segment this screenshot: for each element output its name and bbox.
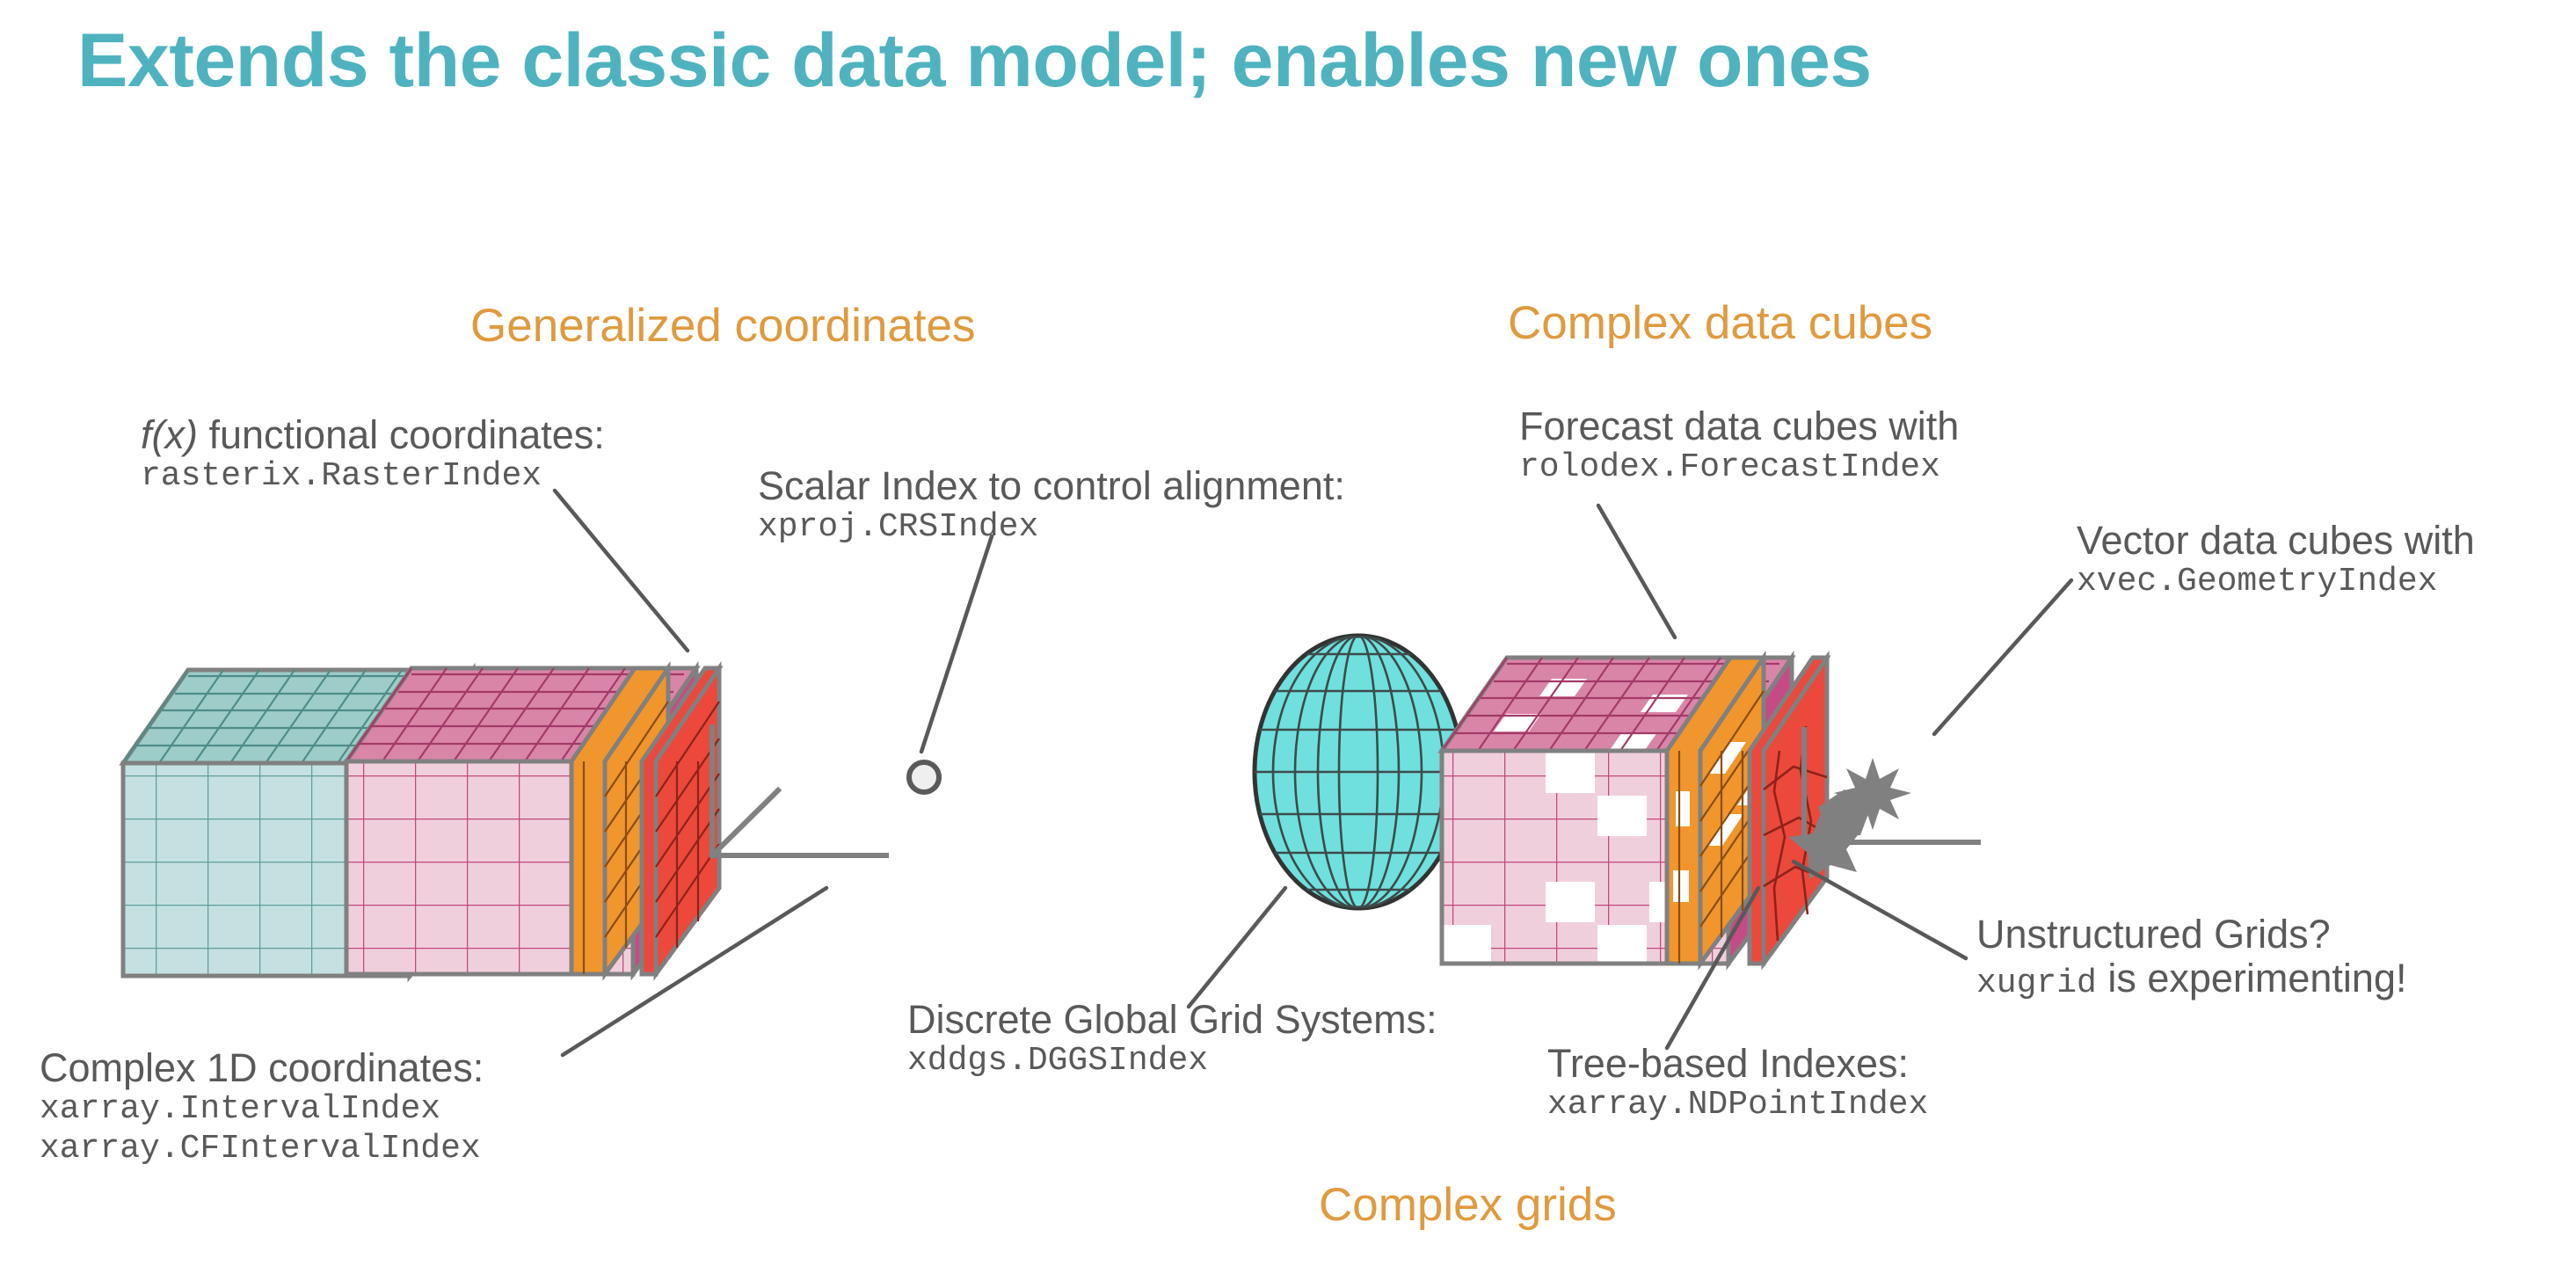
- leader-xugrid: [1794, 862, 1966, 958]
- leader-crs: [921, 536, 992, 752]
- leader-forecast: [1598, 506, 1675, 637]
- annotation-crs-label: Scalar Index to control alignment:: [758, 464, 1345, 508]
- annotation-ndpoint: Tree-based Indexes: xarray.NDPointIndex: [1547, 1042, 1928, 1125]
- annotation-xugrid-code-rest: is experimenting!: [2097, 956, 2407, 1000]
- annotation-crs: Scalar Index to control alignment: xproj…: [758, 464, 1345, 548]
- annotation-forecast-code: rolodex.ForecastIndex: [1519, 448, 1959, 488]
- annotation-interval: Complex 1D coordinates: xarray.IntervalI…: [40, 1046, 484, 1169]
- annotation-crs-code: xproj.CRSIndex: [758, 508, 1345, 548]
- annotation-interval-code-2: xarray.CFIntervalIndex: [40, 1130, 484, 1169]
- annotation-forecast-label: Forecast data cubes with: [1519, 404, 1959, 448]
- slide-canvas: Extends the classic data model; enables …: [0, 0, 2576, 1266]
- annotation-dggs: Discrete Global Grid Systems: xddgs.DGGS…: [907, 998, 1437, 1081]
- leader-rasterix: [555, 491, 688, 651]
- annotation-geometry: Vector data cubes with xvec.GeometryInde…: [2077, 519, 2475, 602]
- annotation-rasterix-label: f(x) functional coordinates:: [141, 413, 605, 457]
- annotation-xugrid-label: Unstructured Grids?: [1976, 913, 2407, 957]
- annotation-rasterix: f(x) functional coordinates: rasterix.Ra…: [141, 413, 605, 497]
- annotation-geometry-code: xvec.GeometryIndex: [2077, 563, 2475, 602]
- annotation-rasterix-italic: f(x): [141, 412, 198, 457]
- annotation-geometry-label: Vector data cubes with: [2077, 519, 2475, 563]
- annotation-xugrid-code: xugrid: [1976, 964, 2097, 1002]
- right-graphic-group: [1255, 625, 1978, 964]
- dggs-globe: [1255, 625, 1462, 919]
- annotation-dggs-code: xddgs.DGGSIndex: [907, 1042, 1437, 1081]
- leader-dggs: [1189, 888, 1285, 1007]
- annotation-xugrid: Unstructured Grids? xugrid is experiment…: [1976, 913, 2407, 1003]
- annotation-dggs-label: Discrete Global Grid Systems:: [907, 998, 1437, 1042]
- annotation-rasterix-code: rasterix.RasterIndex: [141, 457, 605, 497]
- annotation-forecast: Forecast data cubes with rolodex.Forecas…: [1519, 404, 1959, 488]
- leader-geometry: [1934, 580, 2071, 734]
- axes-frame: [712, 727, 886, 855]
- left-graphic-group: [123, 668, 939, 976]
- annotation-interval-code-1: xarray.IntervalIndex: [40, 1090, 484, 1130]
- annotation-rasterix-rest: functional coordinates:: [198, 412, 605, 457]
- annotation-ndpoint-label: Tree-based Indexes:: [1547, 1042, 1928, 1086]
- scalar-circle: [909, 762, 939, 792]
- annotation-interval-label: Complex 1D coordinates:: [40, 1046, 484, 1090]
- annotation-ndpoint-code: xarray.NDPointIndex: [1547, 1086, 1928, 1125]
- annotation-xugrid-code-line: xugrid is experimenting!: [1976, 957, 2407, 1003]
